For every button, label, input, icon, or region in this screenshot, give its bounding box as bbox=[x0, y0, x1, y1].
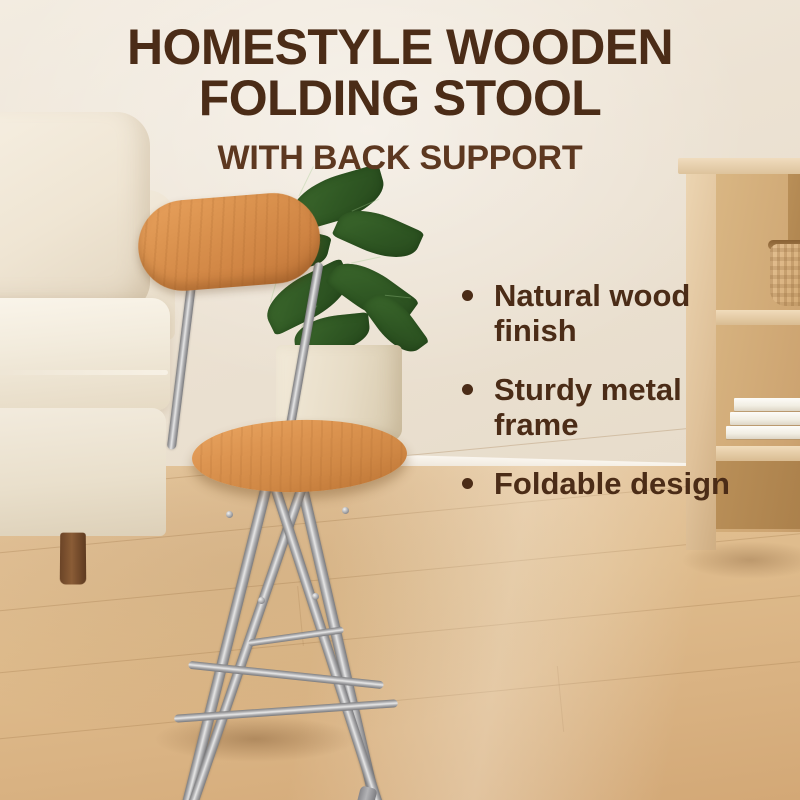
feature-text: Foldable design bbox=[494, 466, 730, 501]
product-marketing-image: HOMESTYLE WOODEN FOLDING STOOL WITH BACK… bbox=[0, 0, 800, 800]
wooden-backrest bbox=[136, 190, 325, 295]
woven-basket bbox=[770, 244, 800, 306]
list-item: Foldable design bbox=[460, 466, 760, 501]
backrest-wood-grain bbox=[136, 190, 325, 295]
pivot-rivet bbox=[226, 511, 233, 518]
feature-text: Natural wood finish bbox=[494, 278, 690, 348]
pivot-rivet bbox=[258, 597, 265, 604]
bullet-dot-icon bbox=[462, 384, 473, 395]
feature-list: Natural wood finish Sturdy metal frame F… bbox=[460, 278, 760, 525]
bullet-dot-icon bbox=[462, 290, 473, 301]
subheadline: WITH BACK SUPPORT bbox=[0, 139, 800, 178]
feature-text: Sturdy metal frame bbox=[494, 372, 682, 442]
page-title: HOMESTYLE WOODEN FOLDING STOOL bbox=[0, 22, 800, 124]
headline-line-1: HOMESTYLE WOODEN bbox=[0, 22, 800, 73]
list-item: Sturdy metal frame bbox=[460, 372, 760, 442]
wooden-seat bbox=[191, 417, 408, 495]
folding-stool bbox=[130, 195, 460, 765]
list-item: Natural wood finish bbox=[460, 278, 760, 348]
pivot-rivet bbox=[342, 507, 349, 514]
headline-line-2: FOLDING STOOL bbox=[0, 73, 800, 124]
backrest-post-left bbox=[167, 265, 198, 450]
seat-wood-grain bbox=[191, 417, 408, 495]
sofa-leg bbox=[60, 533, 87, 585]
pivot-rivet bbox=[312, 593, 319, 600]
bullet-dot-icon bbox=[462, 478, 473, 489]
